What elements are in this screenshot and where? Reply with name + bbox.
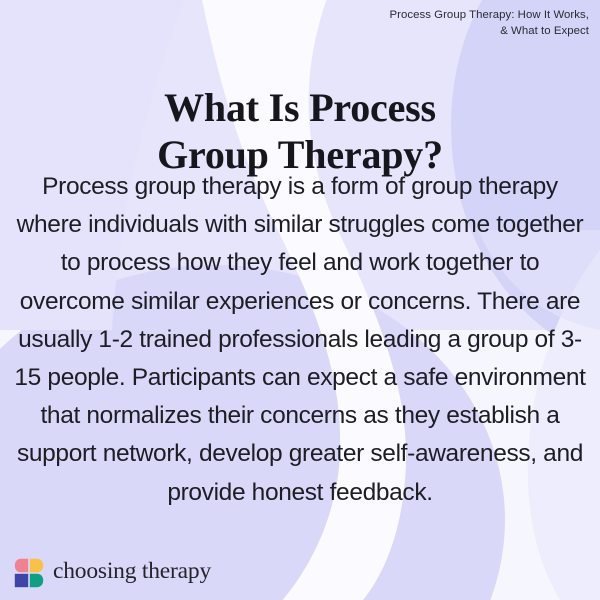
body-paragraph: Process group therapy is a form of group… bbox=[0, 168, 600, 512]
logo-quadrant-bottom-right bbox=[30, 574, 43, 587]
brand-wordmark: choosing therapy bbox=[53, 560, 211, 586]
body-line-5: usually 1-2 trained professionals leadin… bbox=[0, 321, 600, 359]
kicker-line-1: Process Group Therapy: How It Works, bbox=[259, 8, 589, 24]
body-line-9: provide honest feedback. bbox=[0, 474, 600, 512]
logo-quadrant-top-left bbox=[15, 559, 28, 572]
logo-quadrant-bottom-left bbox=[15, 574, 28, 587]
brand-logo[interactable]: choosing therapy bbox=[14, 558, 211, 588]
body-line-4: overcome similar experiences or concerns… bbox=[0, 283, 600, 321]
headline-line-1: What Is Process bbox=[0, 84, 600, 131]
infographic-card: Process Group Therapy: How It Works, & W… bbox=[0, 0, 600, 600]
body-line-8: support network, develop greater self-aw… bbox=[0, 435, 600, 473]
content-layer: Process Group Therapy: How It Works, & W… bbox=[0, 0, 600, 600]
kicker-heading: Process Group Therapy: How It Works, & W… bbox=[259, 8, 589, 39]
page-title: What Is Process Group Therapy? bbox=[0, 84, 600, 178]
body-line-7: that normalizes their concerns as they e… bbox=[0, 397, 600, 435]
kicker-line-2: & What to Expect bbox=[259, 24, 589, 40]
choosing-therapy-logo-icon bbox=[14, 558, 44, 588]
body-line-3: to process how they feel and work togeth… bbox=[0, 244, 600, 282]
body-line-1: Process group therapy is a form of group… bbox=[0, 168, 600, 206]
logo-quadrant-top-right bbox=[30, 559, 43, 572]
body-line-2: where individuals with similar struggles… bbox=[0, 206, 600, 244]
body-line-6: 15 people. Participants can expect a saf… bbox=[0, 359, 600, 397]
